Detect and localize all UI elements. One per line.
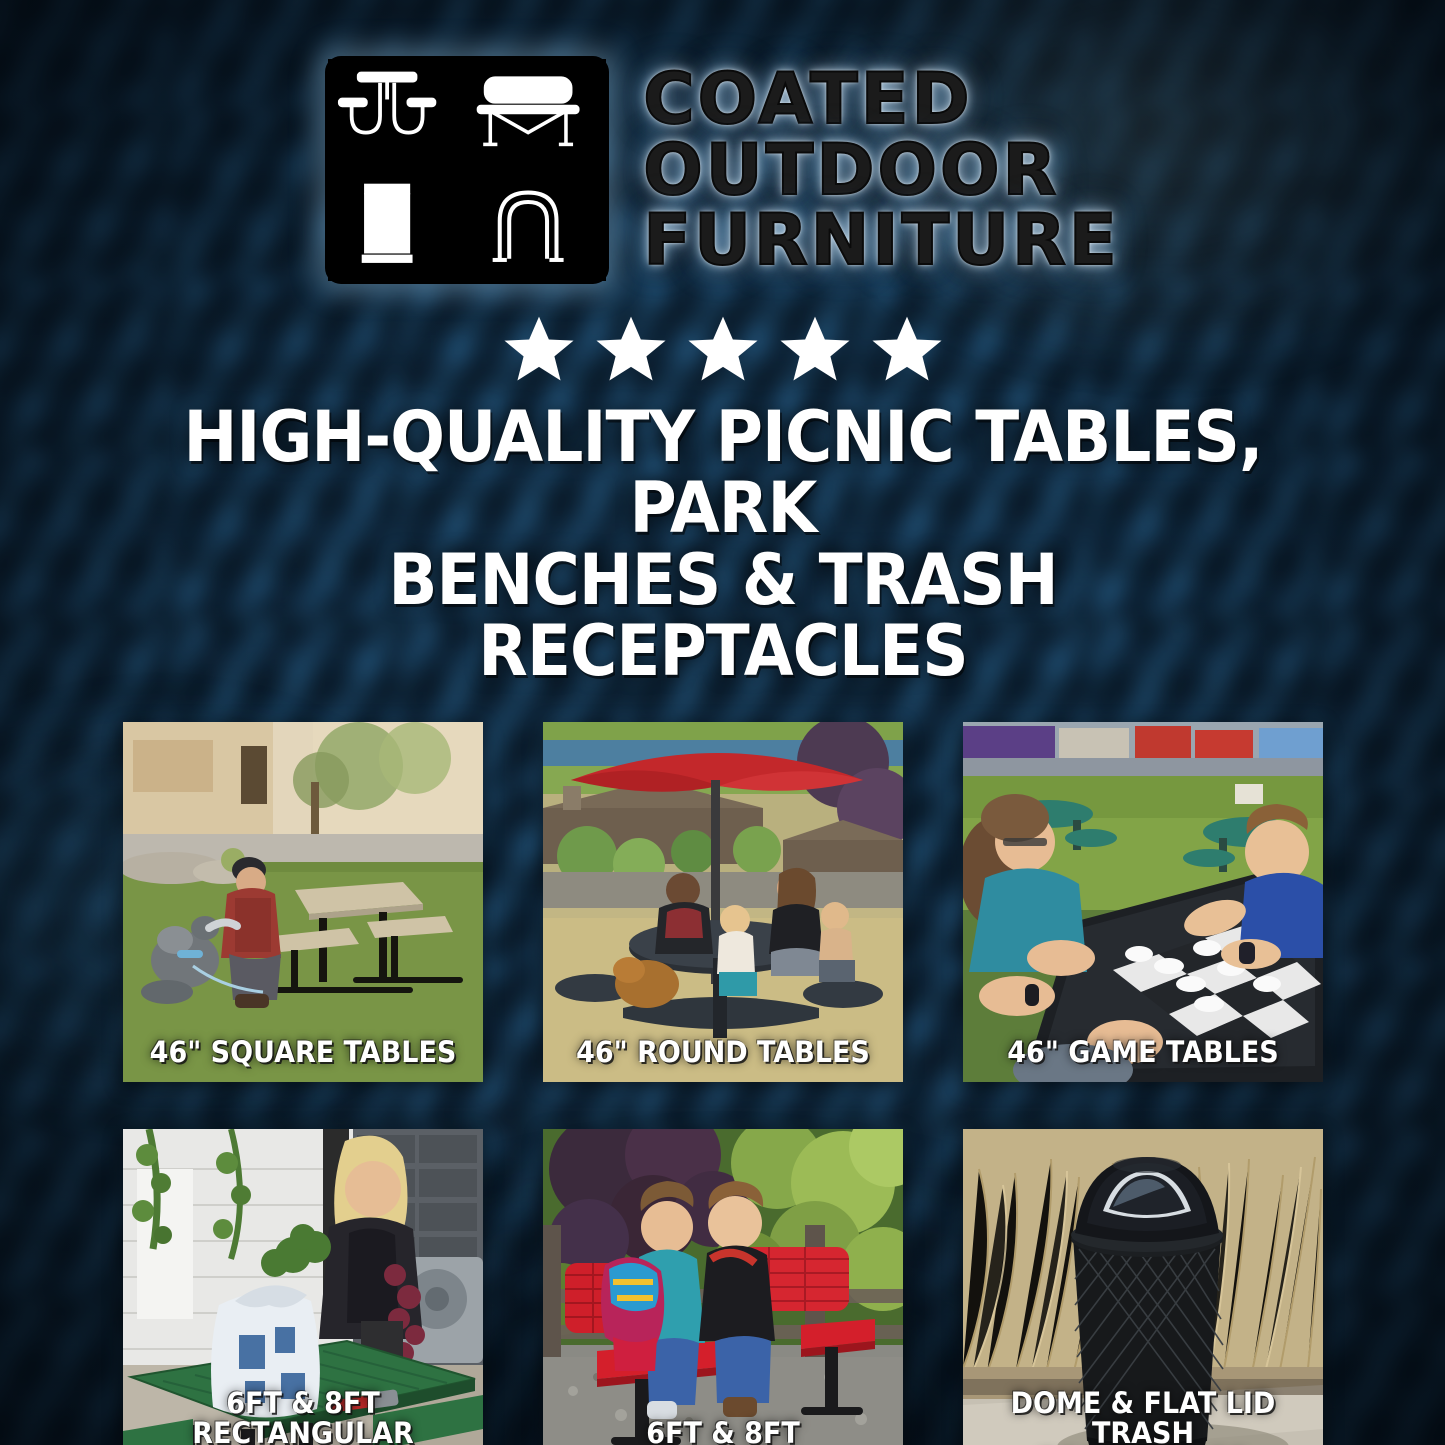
product-photo-round-tables [543, 722, 903, 1082]
product-photo-game-tables [963, 722, 1323, 1082]
caption-line: 46" ROUND TABLES [563, 1037, 883, 1067]
product-caption-round-tables: 46" ROUND TABLES [555, 1037, 890, 1067]
brand-name-line-1: COATED [643, 65, 1120, 134]
caption-line: 46" GAME TABLES [983, 1037, 1303, 1067]
product-tile-trash-receptacles[interactable]: DOME & FLAT LID TRASH RECEPTACLES [963, 1129, 1323, 1445]
bike-rack-arch-icon [469, 176, 607, 276]
logo-quadrant-bike-rack [469, 172, 607, 282]
product-tile-benches[interactable]: 6FT & 8FT BENCHES [543, 1129, 903, 1445]
logo-quadrant-trash-receptacle [328, 172, 466, 282]
logo-quadrant-bench [469, 59, 607, 169]
product-caption-rectangular-tables: 6FT & 8FT RECTANGULAR TABLES [135, 1388, 470, 1445]
bench-icon [469, 64, 607, 164]
brand-name-line-2: OUTDOOR [643, 136, 1120, 205]
brand-logo: COATED OUTDOOR FURNITURE [325, 56, 1120, 284]
headline-line-2: BENCHES & TRASH RECEPTACLES [157, 545, 1289, 688]
brand-wordmark: COATED OUTDOOR FURNITURE [643, 65, 1120, 275]
logo-mark-quadrants [325, 56, 609, 284]
caption-line: 46" SQUARE TABLES [143, 1037, 463, 1067]
headline-line-1: HIGH-QUALITY PICNIC TABLES, PARK [157, 402, 1289, 545]
product-caption-benches: 6FT & 8FT BENCHES [555, 1418, 890, 1445]
product-caption-game-tables: 46" GAME TABLES [975, 1037, 1310, 1067]
product-photo-square-tables [123, 722, 483, 1082]
caption-line: DOME & FLAT LID [983, 1388, 1303, 1418]
star-icon [870, 312, 944, 386]
brand-name-line-3: FURNITURE [643, 206, 1120, 275]
star-icon [502, 312, 576, 386]
product-tile-rectangular-tables[interactable]: 6FT & 8FT RECTANGULAR TABLES [123, 1129, 483, 1445]
logo-quadrant-picnic-table [328, 59, 466, 169]
star-rating [502, 312, 944, 386]
product-tile-round-tables[interactable]: 46" ROUND TABLES [543, 722, 903, 1082]
trash-receptacle-icon [328, 176, 466, 276]
star-icon [778, 312, 852, 386]
star-icon [594, 312, 668, 386]
product-grid: 46" SQUARE TABLES [123, 722, 1323, 1445]
caption-line: TRASH RECEPTACLES [983, 1418, 1303, 1445]
caption-line: RECTANGULAR TABLES [143, 1418, 463, 1445]
caption-line: 6FT & 8FT [563, 1418, 883, 1445]
caption-line: 6FT & 8FT [143, 1388, 463, 1418]
poster-content: COATED OUTDOOR FURNITURE HIGH-QUALITY PI… [0, 0, 1445, 1445]
headline: HIGH-QUALITY PICNIC TABLES, PARK BENCHES… [157, 402, 1289, 688]
marketing-poster: COATED OUTDOOR FURNITURE HIGH-QUALITY PI… [0, 0, 1445, 1445]
star-icon [686, 312, 760, 386]
product-tile-game-tables[interactable]: 46" GAME TABLES [963, 722, 1323, 1082]
product-photo-benches [543, 1129, 903, 1445]
product-caption-trash-receptacles: DOME & FLAT LID TRASH RECEPTACLES [975, 1388, 1310, 1445]
picnic-table-icon [328, 64, 466, 164]
product-tile-square-tables[interactable]: 46" SQUARE TABLES [123, 722, 483, 1082]
product-caption-square-tables: 46" SQUARE TABLES [135, 1037, 470, 1067]
